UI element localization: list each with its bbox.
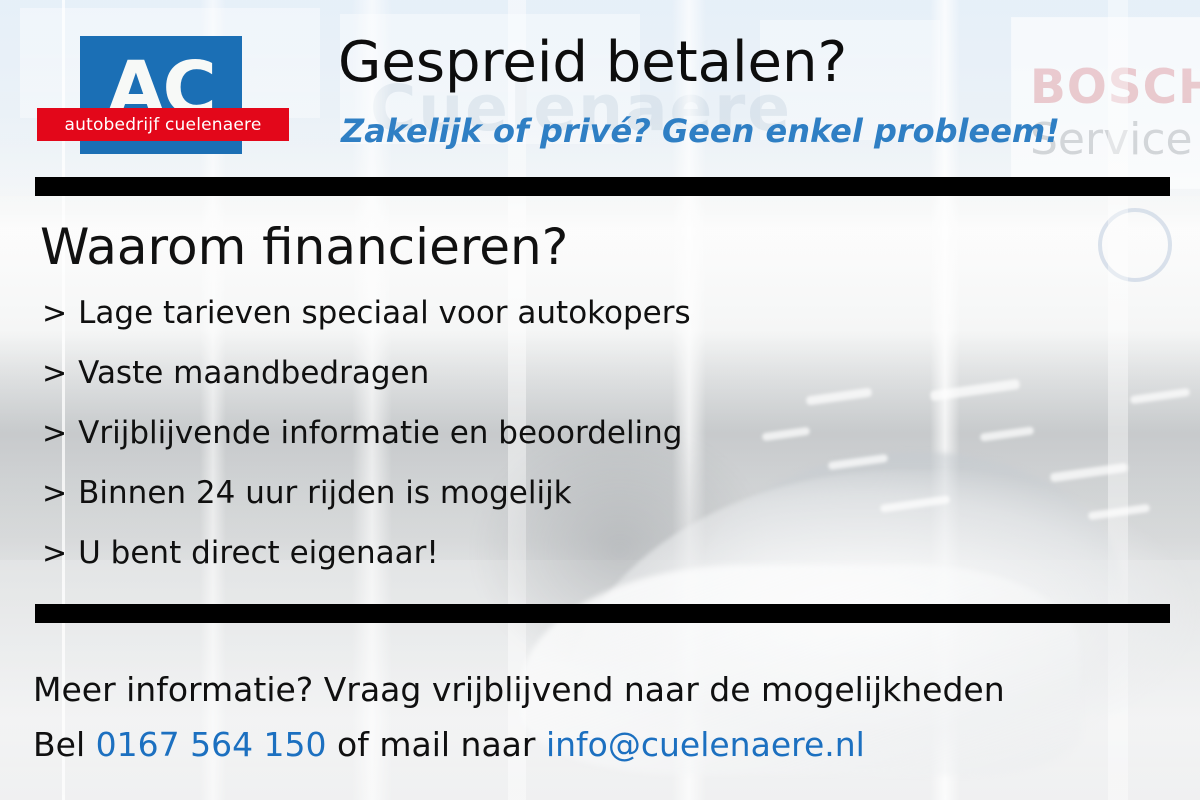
list-item-label: Vrijblijvende informatie en beoordeling [78,415,682,451]
financing-promo-banner: Cuelenaere BOSCH Service AC [0,0,1200,800]
benefit-list: > Lage tarieven speciaal voor autokopers… [42,295,1042,595]
chevron-right-icon: > [42,476,67,511]
chevron-right-icon: > [42,536,67,571]
footer-info-line: Meer informatie? Vraag vrijblijvend naar… [33,662,1005,717]
list-item-label: Lage tarieven speciaal voor autokopers [78,295,691,331]
chevron-right-icon: > [42,296,67,331]
banner-content: AC autobedrijf cuelenaere Gespreid betal… [0,0,1200,800]
divider-bar-bottom [35,604,1170,623]
email-address[interactable]: info@cuelenaere.nl [546,725,865,764]
headline: Gespreid betalen? [338,34,847,91]
logo-red-band: autobedrijf cuelenaere [37,108,289,141]
contact-footer: Meer informatie? Vraag vrijblijvend naar… [33,662,1005,773]
list-item: > Vaste maandbedragen [42,355,1042,415]
phone-number[interactable]: 0167 564 150 [96,725,327,764]
list-item-label: Binnen 24 uur rijden is mogelijk [78,475,572,511]
divider-bar-top [35,177,1170,196]
chevron-right-icon: > [42,416,67,451]
footer-contact-line: Bel 0167 564 150 of mail naar info@cuele… [33,717,1005,772]
section-title: Waarom financieren? [40,218,568,276]
subheadline: Zakelijk of privé? Geen enkel probleem! [341,112,1060,150]
list-item: > U bent direct eigenaar! [42,535,1042,595]
call-label: Bel [33,725,96,764]
company-logo: AC autobedrijf cuelenaere [33,30,293,155]
list-item-label: U bent direct eigenaar! [78,535,439,571]
list-item: > Lage tarieven speciaal voor autokopers [42,295,1042,355]
chevron-right-icon: > [42,356,67,391]
list-item: > Binnen 24 uur rijden is mogelijk [42,475,1042,535]
list-item: > Vrijblijvende informatie en beoordelin… [42,415,1042,475]
mail-label: of mail naar [327,725,546,764]
list-item-label: Vaste maandbedragen [78,355,429,391]
logo-tagline: autobedrijf cuelenaere [64,115,261,135]
